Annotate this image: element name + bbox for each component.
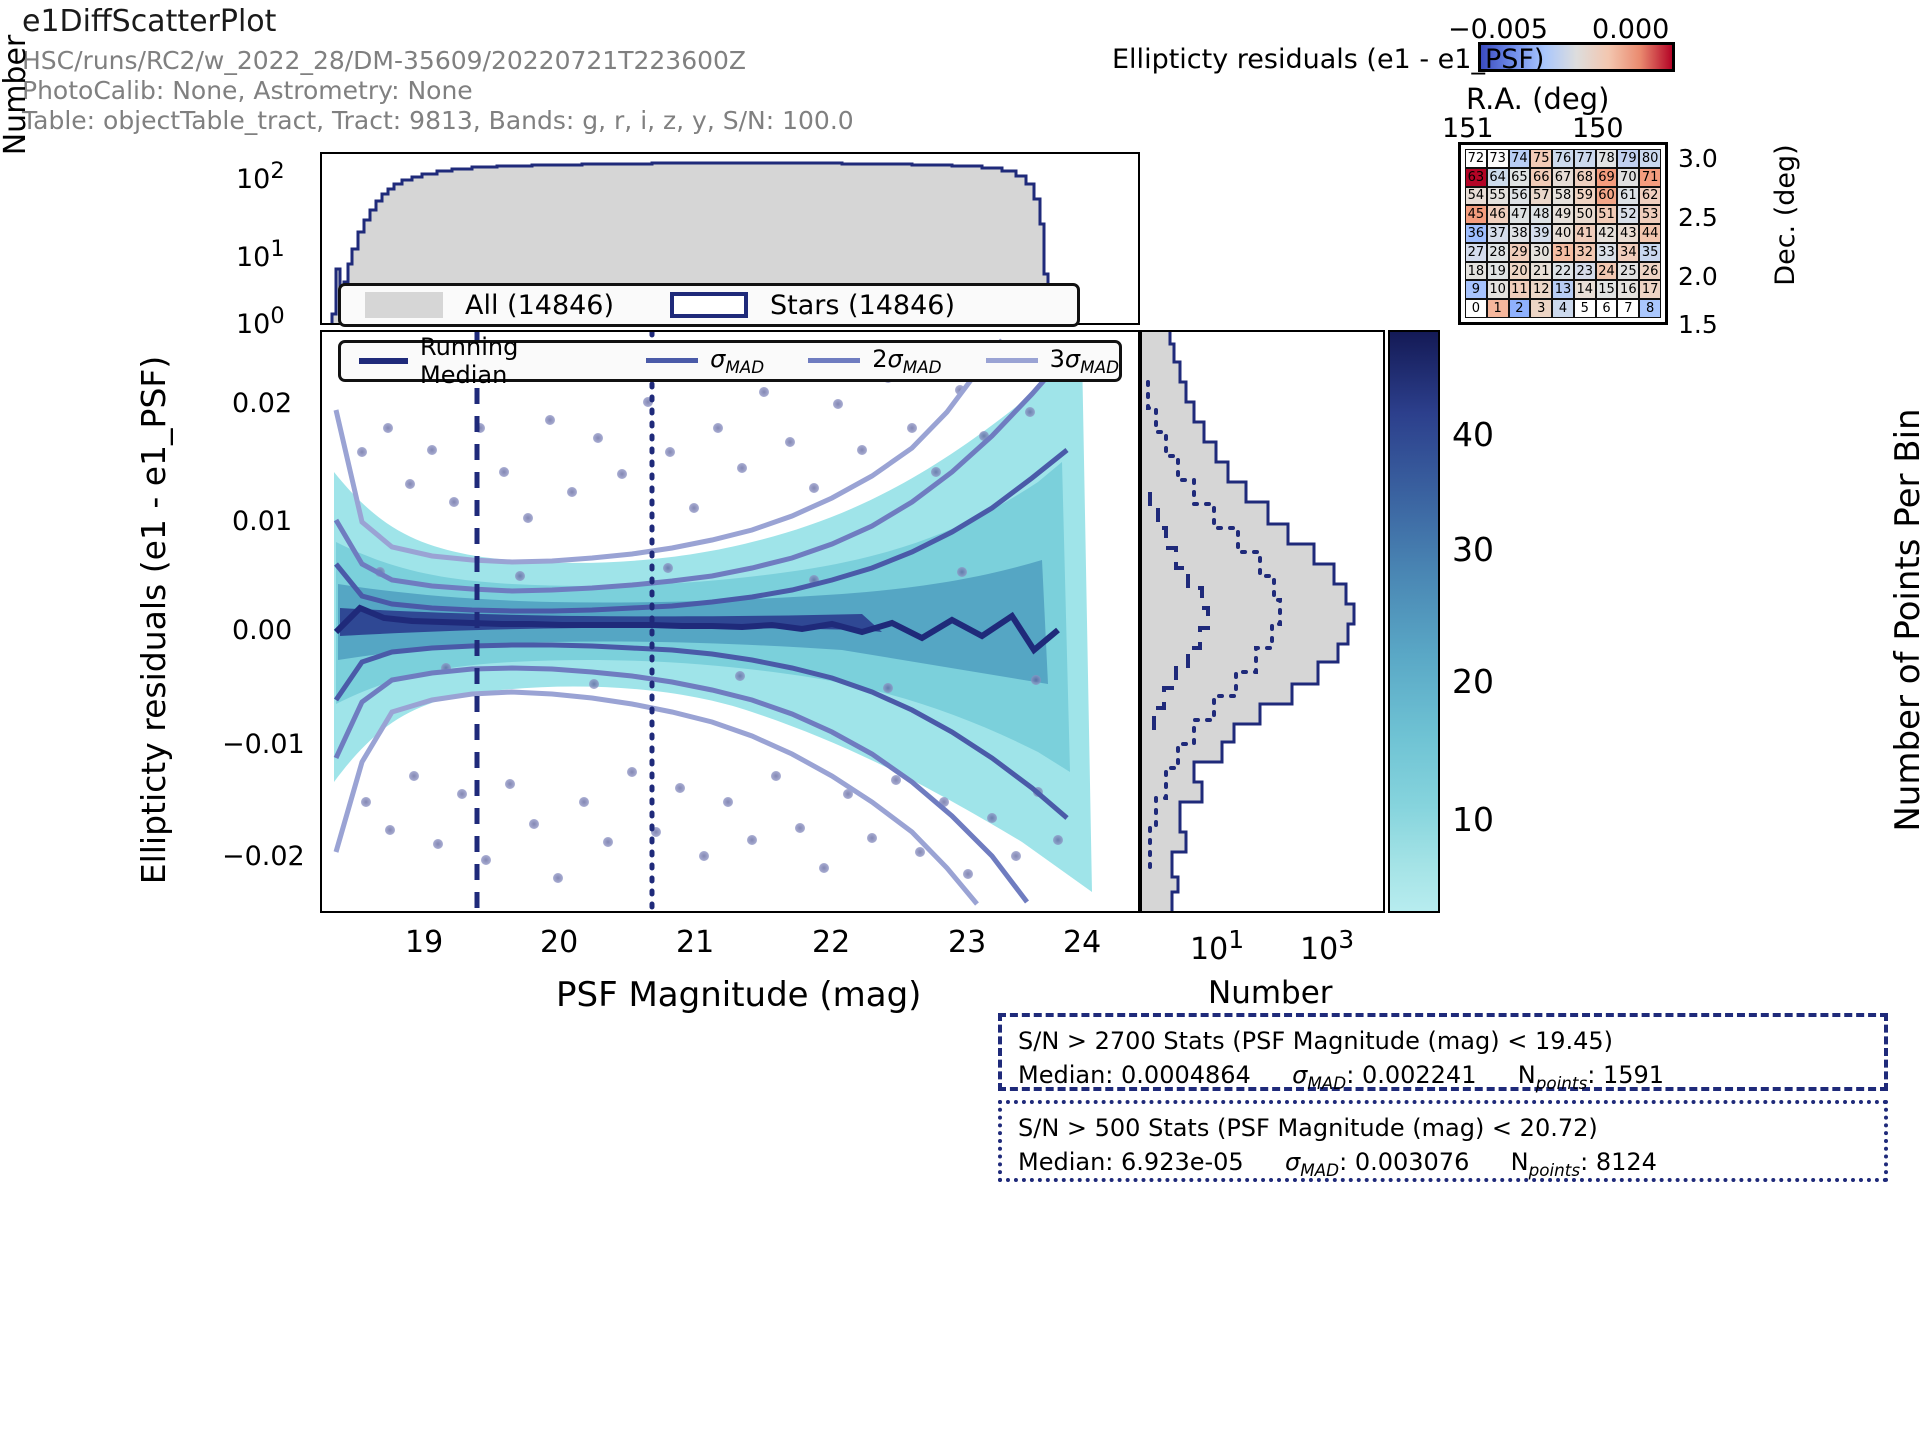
stats-median-label-sn2700: Median: [1018, 1061, 1113, 1089]
main-scatter-svg [322, 332, 1138, 911]
sky-patch-73[interactable]: 73 [1487, 149, 1509, 168]
sky-patch-15[interactable]: 15 [1596, 280, 1618, 299]
sky-patch-11[interactable]: 11 [1509, 280, 1531, 299]
stats-median-value-sn2700: 0.0004864 [1121, 1061, 1251, 1089]
colorbar-tick-20: 20 [1452, 662, 1494, 701]
sky-patch-3[interactable]: 3 [1530, 299, 1552, 318]
sky-patch-20[interactable]: 20 [1509, 262, 1531, 281]
sky-patch-74[interactable]: 74 [1509, 149, 1531, 168]
main-ytick-0.01: 0.01 [232, 506, 292, 537]
stats-sigma-value-sn500: 0.003076 [1355, 1148, 1470, 1176]
sky-patch-1[interactable]: 1 [1487, 299, 1509, 318]
stats-box-sn500: S/N > 500 Stats (PSF Magnitude (mag) < 2… [998, 1100, 1888, 1182]
sky-patch-33[interactable]: 33 [1596, 243, 1618, 262]
sky-patch-50[interactable]: 50 [1574, 205, 1596, 224]
page-title: e1DiffScatterPlot [22, 4, 276, 39]
main-scatter-panel [320, 330, 1140, 913]
sky-patch-24[interactable]: 24 [1596, 262, 1618, 281]
sky-patch-46[interactable]: 46 [1487, 205, 1509, 224]
stats-title-sn500: S/N > 500 Stats (PSF Magnitude (mag) < 2… [1018, 1114, 1868, 1142]
legend-label-all: All (14846) [465, 290, 614, 321]
legend-item-sigma-mad: σMAD [646, 345, 764, 377]
sky-patch-23[interactable]: 23 [1574, 262, 1596, 281]
legend-label-running-median: Running Median [420, 333, 602, 389]
colorbar-label: Number of Points Per Bin [1888, 340, 1920, 900]
main-xtick-19: 19 [405, 925, 443, 960]
sky-patch-43[interactable]: 43 [1617, 224, 1639, 243]
sky-patch-17[interactable]: 17 [1639, 280, 1661, 299]
legend-item-running-median: Running Median [359, 333, 602, 389]
stats-values-sn2700: Median: 0.0004864 σMAD: 0.002241 Npoints… [1018, 1061, 1868, 1093]
main-ylabel: Ellipticty residuals (e1 - e1_PSF) [134, 310, 173, 930]
sky-patch-4[interactable]: 4 [1552, 299, 1574, 318]
sky-patch-55[interactable]: 55 [1487, 187, 1509, 206]
sky-tract-grid: 7273747576777879806364656667686970715455… [1465, 149, 1661, 318]
sky-patch-12[interactable]: 12 [1530, 280, 1552, 299]
sky-patch-70[interactable]: 70 [1617, 168, 1639, 187]
sky-patch-56[interactable]: 56 [1509, 187, 1531, 206]
side-histogram-panel [1140, 330, 1385, 913]
stats-sigma-label-sn500: σMAD: [1285, 1148, 1347, 1176]
sky-patch-51[interactable]: 51 [1596, 205, 1618, 224]
legend-line-running-median [359, 358, 408, 364]
sky-patch-45[interactable]: 45 [1465, 205, 1487, 224]
main-xlabel: PSF Magnitude (mag) [556, 975, 921, 1015]
sky-patch-64[interactable]: 64 [1487, 168, 1509, 187]
sky-patch-41[interactable]: 41 [1574, 224, 1596, 243]
sky-patch-35[interactable]: 35 [1639, 243, 1661, 262]
sky-patch-75[interactable]: 75 [1530, 149, 1552, 168]
legend-label-two-sigma-mad: 2σMAD [872, 345, 941, 377]
main-xtick-21: 21 [676, 925, 714, 960]
sky-patch-2[interactable]: 2 [1509, 299, 1531, 318]
sky-patch-5[interactable]: 5 [1574, 299, 1596, 318]
main-ytick--0.02: −0.02 [222, 841, 305, 872]
side-hist-xlabel: Number [1208, 975, 1333, 1011]
sky-patch-57[interactable]: 57 [1530, 187, 1552, 206]
legend-item-two-sigma-mad: 2σMAD [808, 345, 941, 377]
sky-xtick-150: 150 [1572, 113, 1624, 144]
sky-patch-54[interactable]: 54 [1465, 187, 1487, 206]
sky-patch-13[interactable]: 13 [1552, 280, 1574, 299]
top-hist-ytick-1e1: 101 [236, 236, 285, 273]
sky-patch-78[interactable]: 78 [1596, 149, 1618, 168]
sky-patch-63[interactable]: 63 [1465, 168, 1487, 187]
sky-patch-52[interactable]: 52 [1617, 205, 1639, 224]
sky-patch-10[interactable]: 10 [1487, 280, 1509, 299]
sky-patch-36[interactable]: 36 [1465, 224, 1487, 243]
legend-line-three-sigma-mad [986, 358, 1038, 363]
sky-patch-7[interactable]: 7 [1617, 299, 1639, 318]
legend-label-stars: Stars (14846) [770, 290, 955, 321]
stats-sigma-label-sn2700: σMAD: [1292, 1061, 1354, 1089]
subtitle-line-table: Table: objectTable_tract, Tract: 9813, B… [22, 106, 854, 136]
sky-patch-79[interactable]: 79 [1617, 149, 1639, 168]
legend-swatch-all [365, 292, 443, 318]
main-xtick-20: 20 [540, 925, 578, 960]
stats-npoints-value-sn500: 8124 [1596, 1148, 1657, 1176]
sky-patch-53[interactable]: 53 [1639, 205, 1661, 224]
main-xtick-23: 23 [948, 925, 986, 960]
sky-patch-48[interactable]: 48 [1530, 205, 1552, 224]
stats-box-sn2700: S/N > 2700 Stats (PSF Magnitude (mag) < … [998, 1013, 1888, 1091]
sky-patch-67[interactable]: 67 [1552, 168, 1574, 187]
sky-xtick-151: 151 [1442, 113, 1494, 144]
legend-swatch-stars [670, 292, 748, 318]
colorbar-tick-10: 10 [1452, 800, 1494, 839]
side-histogram-svg [1142, 332, 1383, 911]
sky-patch-39[interactable]: 39 [1530, 224, 1552, 243]
sky-patch-8[interactable]: 8 [1639, 299, 1661, 318]
top-hist-ytick-1e0: 100 [236, 303, 285, 340]
sky-patch-28[interactable]: 28 [1487, 243, 1509, 262]
sky-colorbar-tick--0.005: −0.005 [1448, 14, 1548, 45]
sky-patch-25[interactable]: 25 [1617, 262, 1639, 281]
sky-patch-19[interactable]: 19 [1487, 262, 1509, 281]
sky-patch-16[interactable]: 16 [1617, 280, 1639, 299]
sky-patch-62[interactable]: 62 [1639, 187, 1661, 206]
sky-patch-32[interactable]: 32 [1574, 243, 1596, 262]
main-plot-legend: Running Median σMAD 2σMAD 3σMAD [338, 340, 1122, 382]
sky-patch-30[interactable]: 30 [1530, 243, 1552, 262]
top-histogram-legend: All (14846) Stars (14846) [338, 283, 1080, 327]
legend-line-two-sigma-mad [808, 358, 860, 363]
stats-values-sn500: Median: 6.923e-05 σMAD: 0.003076 Npoints… [1018, 1148, 1868, 1180]
sky-patch-6[interactable]: 6 [1596, 299, 1618, 318]
top-hist-ylabel: Number [0, 10, 33, 180]
sky-patch-77[interactable]: 77 [1574, 149, 1596, 168]
sky-patch-58[interactable]: 58 [1552, 187, 1574, 206]
main-xtick-22: 22 [812, 925, 850, 960]
stats-title-sn2700: S/N > 2700 Stats (PSF Magnitude (mag) < … [1018, 1027, 1868, 1055]
sky-patch-18[interactable]: 18 [1465, 262, 1487, 281]
sky-patch-72[interactable]: 72 [1465, 149, 1487, 168]
legend-line-sigma-mad [646, 358, 698, 363]
sky-patch-26[interactable]: 26 [1639, 262, 1661, 281]
stats-median-label-sn500: Median: [1018, 1148, 1113, 1176]
sky-ytick-2.5: 2.5 [1678, 203, 1718, 232]
main-xtick-24: 24 [1063, 925, 1101, 960]
main-ytick-0.00: 0.00 [232, 615, 292, 646]
sky-patch-60[interactable]: 60 [1596, 187, 1618, 206]
subtitle-line-collection: HSC/runs/RC2/w_2022_28/DM-35609/20220721… [22, 46, 854, 76]
top-hist-ytick-1e2: 102 [236, 158, 285, 195]
dataset-subtitle: HSC/runs/RC2/w_2022_28/DM-35609/20220721… [22, 46, 854, 136]
side-all-histogram-area [1142, 332, 1354, 911]
sky-patch-65[interactable]: 65 [1509, 168, 1531, 187]
stats-npoints-label-sn500: Npoints: [1511, 1148, 1589, 1176]
sky-patch-76[interactable]: 76 [1552, 149, 1574, 168]
legend-item-three-sigma-mad: 3σMAD [986, 345, 1119, 377]
sky-patch-0[interactable]: 0 [1465, 299, 1487, 318]
sky-ytick-1.5: 1.5 [1678, 310, 1718, 339]
sky-patch-27[interactable]: 27 [1465, 243, 1487, 262]
sky-ytick-3.0: 3.0 [1678, 144, 1718, 173]
sky-patch-71[interactable]: 71 [1639, 168, 1661, 187]
sky-patch-22[interactable]: 22 [1552, 262, 1574, 281]
sky-patch-42[interactable]: 42 [1596, 224, 1618, 243]
colorbar-tick-30: 30 [1452, 530, 1494, 569]
legend-label-sigma-mad: σMAD [710, 345, 764, 377]
stats-median-value-sn500: 6.923e-05 [1121, 1148, 1244, 1176]
stats-npoints-value-sn2700: 1591 [1603, 1061, 1664, 1089]
stats-npoints-label-sn2700: Npoints: [1518, 1061, 1596, 1089]
colorbar-tick-40: 40 [1452, 415, 1494, 454]
sky-patch-29[interactable]: 29 [1509, 243, 1531, 262]
sky-patch-21[interactable]: 21 [1530, 262, 1552, 281]
sky-patch-68[interactable]: 68 [1574, 168, 1596, 187]
sky-colorbar-label: Ellipticty residuals (e1 - e1_PSF) [1112, 44, 1544, 75]
legend-label-three-sigma-mad: 3σMAD [1050, 345, 1119, 377]
sky-patch-9[interactable]: 9 [1465, 280, 1487, 299]
side-hist-xtick-1e1: 101 [1190, 925, 1244, 967]
sky-patch-37[interactable]: 37 [1487, 224, 1509, 243]
sky-patch-40[interactable]: 40 [1552, 224, 1574, 243]
sky-patch-44[interactable]: 44 [1639, 224, 1661, 243]
sky-patch-49[interactable]: 49 [1552, 205, 1574, 224]
sky-patch-69[interactable]: 69 [1596, 168, 1618, 187]
sky-colorbar-tick-0.000: 0.000 [1592, 14, 1669, 45]
sky-ylabel: Dec. (deg) [1770, 120, 1801, 310]
sky-patch-38[interactable]: 38 [1509, 224, 1531, 243]
sky-patch-31[interactable]: 31 [1552, 243, 1574, 262]
sky-patch-66[interactable]: 66 [1530, 168, 1552, 187]
sky-patch-34[interactable]: 34 [1617, 243, 1639, 262]
sky-patch-14[interactable]: 14 [1574, 280, 1596, 299]
side-hist-xtick-1e3: 103 [1300, 925, 1354, 967]
main-ytick-0.02: 0.02 [232, 388, 292, 419]
main-ytick--0.01: −0.01 [222, 729, 305, 760]
sky-patch-61[interactable]: 61 [1617, 187, 1639, 206]
sky-ytick-2.0: 2.0 [1678, 262, 1718, 291]
sky-xlabel: R.A. (deg) [1466, 82, 1609, 116]
sky-patch-80[interactable]: 80 [1639, 149, 1661, 168]
sky-patch-59[interactable]: 59 [1574, 187, 1596, 206]
stats-sigma-value-sn2700: 0.002241 [1362, 1061, 1477, 1089]
sky-tract-panel: 7273747576777879806364656667686970715455… [1458, 142, 1668, 325]
sky-patch-47[interactable]: 47 [1509, 205, 1531, 224]
subtitle-line-calib: PhotoCalib: None, Astrometry: None [22, 76, 854, 106]
density-colorbar [1388, 330, 1440, 913]
